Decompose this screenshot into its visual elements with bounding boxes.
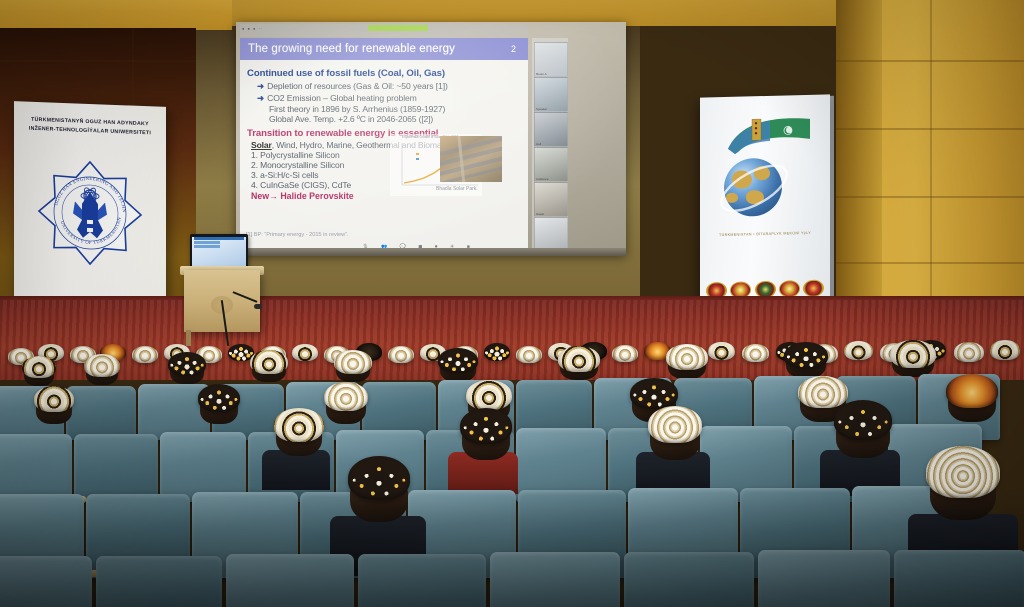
slide-bullet: ➜CO2 Emission – Global heating problem xyxy=(257,93,521,104)
vc-participant-tile[interactable]: Speaker xyxy=(534,77,568,112)
slide-canvas: The growing need for renewable energy 2 … xyxy=(240,38,528,254)
slide-footnote: [1] BP: “Primary energy - 2015 in review… xyxy=(246,232,349,238)
audience-area xyxy=(0,300,1024,607)
tahya-cap xyxy=(460,408,512,444)
tahya-cap xyxy=(198,384,240,412)
slide-bullet: ➜Depletion of resources (Gas & Oil: ~50 … xyxy=(257,81,521,92)
auditorium-seat[interactable] xyxy=(96,556,222,607)
monitor-ui-bar xyxy=(194,237,244,240)
app-window-controls-icon: ● ● ● ·· xyxy=(242,26,263,31)
tahya-cap xyxy=(168,352,206,376)
banner-turkmenistan: TÜRKMENISTAN • BİTARAPLYK MEKÜNİ YýLY xyxy=(700,94,830,305)
wall-seam xyxy=(0,60,196,62)
slide-page-number: 2 xyxy=(511,44,520,54)
screen-frame-bottom xyxy=(236,248,626,256)
tahya-cap xyxy=(612,345,638,362)
tahya-cap xyxy=(558,346,600,372)
arrow-icon: ➜ xyxy=(257,93,264,103)
wall-pilaster-right xyxy=(836,0,882,322)
monitor-ui-bar xyxy=(194,241,220,244)
slide-title-bar: The growing need for renewable energy 2 xyxy=(240,38,528,60)
auditorium-seat[interactable] xyxy=(0,434,72,502)
tahya-cap xyxy=(648,406,702,443)
attendee-shoulders xyxy=(262,450,330,490)
tahya-cap xyxy=(84,354,120,377)
monitor-screen xyxy=(192,237,246,267)
auditorium-seat[interactable] xyxy=(74,434,158,502)
auditorium-seat[interactable] xyxy=(0,556,92,607)
vc-participant-tile[interactable]: Guest xyxy=(534,182,568,217)
slide-bullet-text: CO2 Emission – Global heating problem xyxy=(267,93,417,103)
tahya-cap xyxy=(250,350,288,374)
wall-seam xyxy=(930,0,932,322)
vc-participant-label: Hall xyxy=(536,142,541,146)
slide-materials-bold: Solar xyxy=(251,140,272,150)
presenter-monitor xyxy=(190,234,248,268)
slide-bullet-text: Depletion of resources (Gas & Oil: ~50 y… xyxy=(267,81,448,91)
tahya-cap xyxy=(666,344,708,370)
tahya-cap xyxy=(990,340,1020,360)
tahya-cap xyxy=(742,344,769,362)
tahya-cap xyxy=(292,344,318,361)
tahya-cap xyxy=(22,356,56,378)
tahya-cap xyxy=(946,374,998,408)
tahya-cap xyxy=(954,342,984,362)
university-emblem-icon: OGUZ HAN ENGINEERING AND TECHNOLOGY UNIV… xyxy=(35,156,145,270)
tahya-cap xyxy=(844,341,873,360)
auditorium-seat[interactable] xyxy=(66,386,136,440)
slide-body: Continued use of fossil fuels (Coal, Oil… xyxy=(240,60,528,254)
tahya-cap xyxy=(484,343,510,361)
tahya-cap xyxy=(334,350,372,374)
screen-share-indicator xyxy=(368,25,428,31)
tahya-cap xyxy=(516,346,542,363)
carpet-gul-icon xyxy=(803,279,824,297)
slide-subline: Global Ave. Temp. +2.6 ºC in 2046-2065 (… xyxy=(269,114,521,124)
tahya-cap xyxy=(132,346,158,363)
auditorium-seat[interactable] xyxy=(758,550,890,607)
banner-right-caption: TÜRKMENISTAN • BİTARAPLYK MEKÜNİ YýLY xyxy=(700,230,830,237)
arrow-icon: ➜ xyxy=(257,81,264,91)
auditorium-seat[interactable] xyxy=(490,552,620,607)
orbit-ring-icon xyxy=(714,147,794,229)
tahya-cap xyxy=(388,346,414,363)
vc-participant-tile[interactable]: Audience xyxy=(534,147,568,182)
projection-screen: ● ● ● ·· The growing need for renewable … xyxy=(236,22,626,255)
tahya-cap xyxy=(274,408,324,442)
vc-participant-label: Room A xyxy=(536,72,547,76)
vc-participant-label: Audience xyxy=(536,177,549,181)
tahya-cap xyxy=(630,378,678,409)
auditorium-seat[interactable] xyxy=(894,550,1024,607)
tahya-cap xyxy=(708,342,735,360)
monitor-ui-bar xyxy=(194,245,220,248)
vc-participant-tile[interactable]: Remote xyxy=(534,217,568,252)
tahya-cap xyxy=(834,400,892,440)
tahya-cap xyxy=(348,456,410,500)
auditorium-seat[interactable] xyxy=(358,554,486,607)
slide-title-text: The growing need for renewable energy xyxy=(248,43,511,55)
tahya-cap xyxy=(890,340,936,368)
vc-participant-tile[interactable]: Hall xyxy=(534,112,568,147)
vc-participant-label: Speaker xyxy=(536,107,547,111)
auditorium-seat[interactable] xyxy=(226,554,354,607)
inset-photo-caption: Bhadla Solar Park. xyxy=(436,186,478,192)
banner-university-title: TÜRKMENISTANYŇ OGUZ HAN ADYNDAKY INŽENER… xyxy=(14,115,166,139)
wall-panel-top-left xyxy=(0,0,232,30)
auditorium-seat[interactable] xyxy=(624,552,754,607)
video-conference-panel[interactable]: Room A Speaker Hall Audience Guest Remot… xyxy=(532,38,568,254)
tahya-cap xyxy=(784,342,828,369)
vc-participant-tile[interactable]: Room A xyxy=(534,42,568,77)
slide-subline: First theory in 1896 by S. Arrhenius (18… xyxy=(269,104,521,114)
tahya-cap xyxy=(466,380,512,410)
tahya-cap xyxy=(34,386,74,412)
tahya-cap xyxy=(324,382,368,411)
tahya-cap xyxy=(438,348,478,373)
tahya-cap xyxy=(926,446,1000,498)
vc-participant-label: Guest xyxy=(536,212,544,216)
auditorium-scene: ● ● ● ·· The growing need for renewable … xyxy=(0,0,1024,607)
slide-heading-fossil: Continued use of fossil fuels (Coal, Oil… xyxy=(247,68,521,79)
inset-solar-park-photo xyxy=(440,136,502,182)
carpet-gul-icon xyxy=(779,280,800,298)
